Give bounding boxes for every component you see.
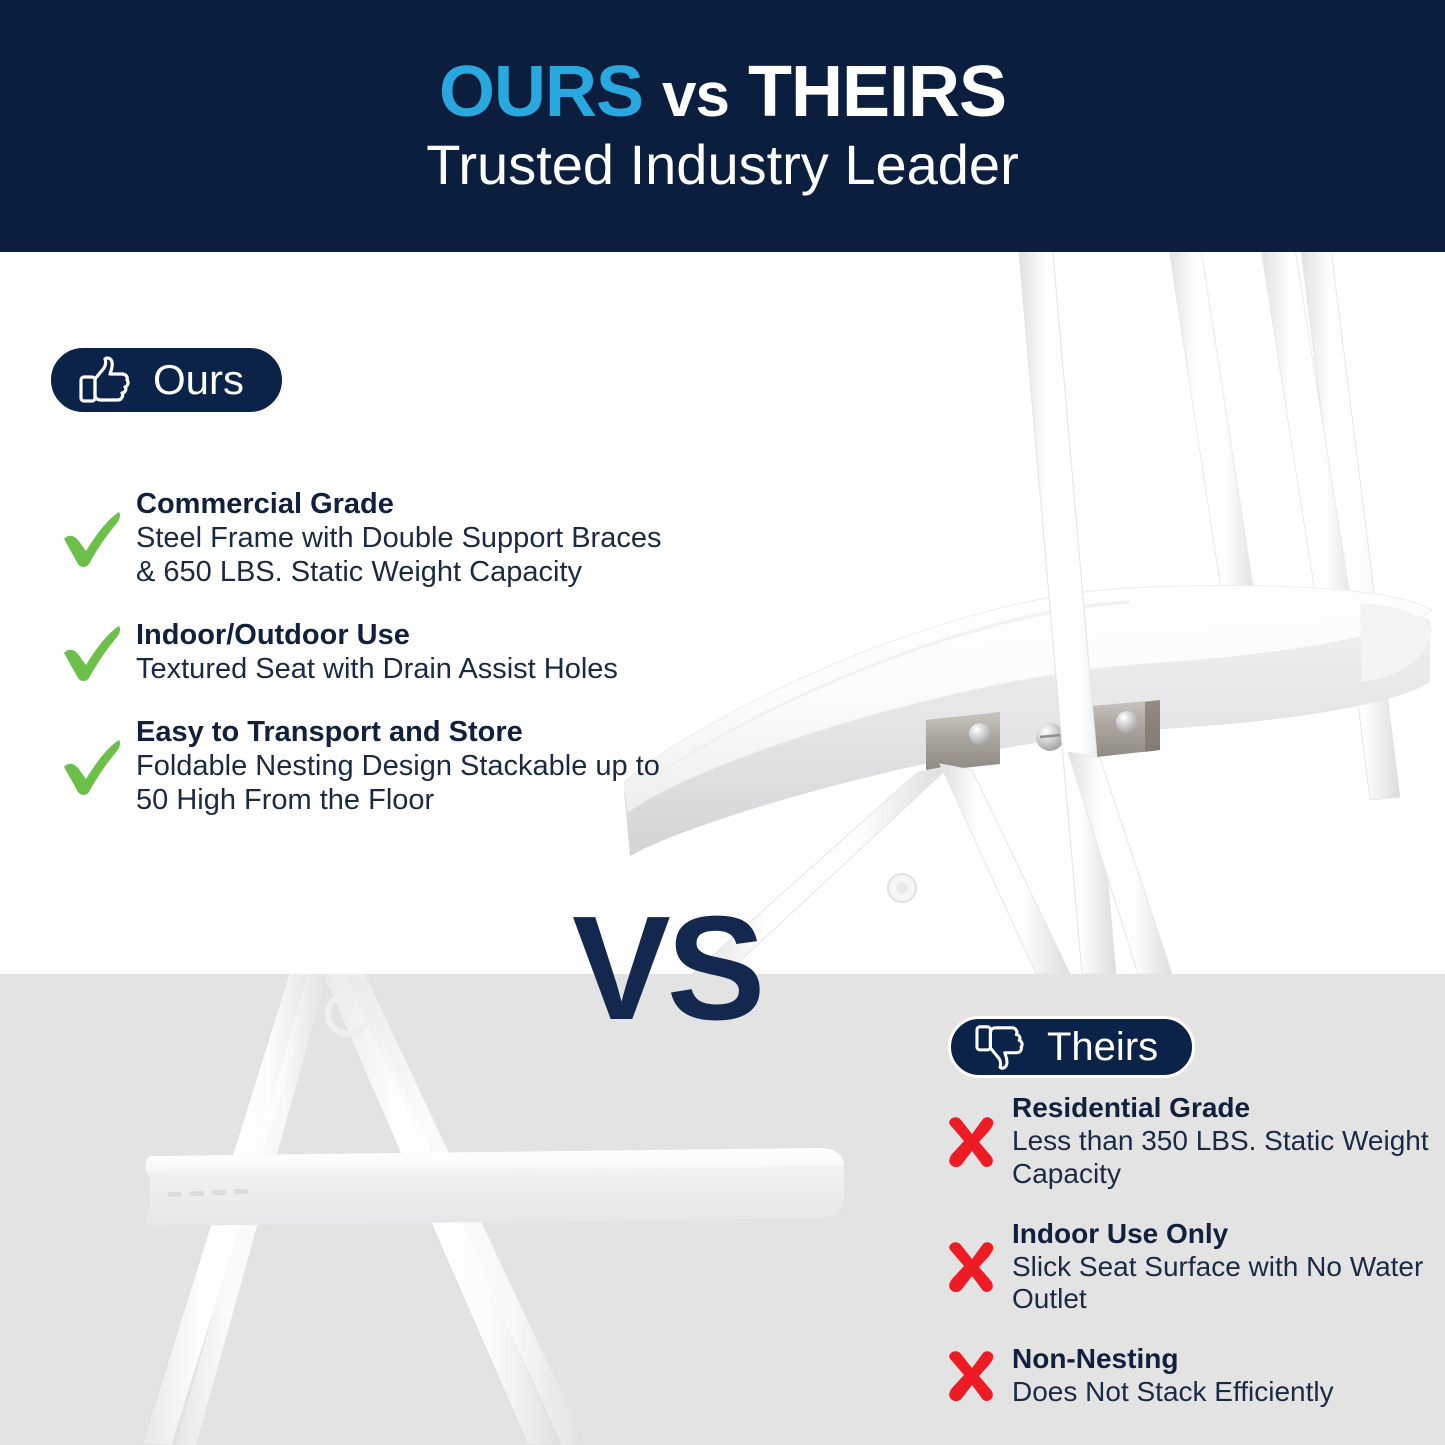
feature-description: Less than 350 LBS. Static Weight Capacit… <box>1012 1125 1432 1191</box>
feature-description: Does Not Stack Efficiently <box>1012 1376 1432 1409</box>
green-check-icon <box>48 623 136 683</box>
feature-description: Textured Seat with Drain Assist Holes <box>136 653 668 687</box>
feature-title: Non-Nesting <box>1012 1342 1432 1375</box>
feature-title: Easy to Transport and Store <box>136 715 668 749</box>
title-theirs-word: THEIRS <box>748 52 1006 132</box>
ours-feature-list: Commercial Grade Steel Frame with Double… <box>48 487 668 818</box>
feature-description: Slick Seat Surface with No Water Outlet <box>1012 1251 1432 1317</box>
feature-title: Residential Grade <box>1012 1091 1432 1124</box>
list-item: Indoor Use Only Slick Seat Surface with … <box>932 1217 1432 1317</box>
list-item: Commercial Grade Steel Frame with Double… <box>48 487 668 590</box>
feature-description: Steel Frame with Double Support Braces &… <box>136 522 668 590</box>
green-check-icon <box>48 509 136 569</box>
list-item: Easy to Transport and Store Foldable Nes… <box>48 715 668 818</box>
page-subtitle: Trusted Industry Leader <box>426 134 1018 196</box>
red-x-icon <box>932 1238 1012 1294</box>
feature-title: Indoor/Outdoor Use <box>136 618 668 652</box>
header-banner: OURS vs THEIRS Trusted Industry Leader <box>0 0 1445 252</box>
thumbs-down-icon <box>975 1023 1025 1071</box>
title-vs-word: vs <box>662 61 729 130</box>
theirs-badge-label: Theirs <box>1047 1027 1158 1067</box>
feature-title: Indoor Use Only <box>1012 1217 1432 1250</box>
theirs-feature-list: Residential Grade Less than 350 LBS. Sta… <box>932 1091 1432 1409</box>
list-item: Non-Nesting Does Not Stack Efficiently <box>932 1342 1432 1409</box>
feature-title: Commercial Grade <box>136 487 668 521</box>
theirs-chair-image <box>0 974 900 1445</box>
infographic-root: OURS vs THEIRS Trusted Industry Leader O… <box>0 0 1445 1445</box>
feature-description: Foldable Nesting Design Stackable up to … <box>136 750 668 818</box>
vs-divider-label: VS <box>572 895 761 1043</box>
thumbs-up-icon <box>79 355 131 405</box>
ours-badge-label: Ours <box>153 359 244 401</box>
list-item: Residential Grade Less than 350 LBS. Sta… <box>932 1091 1432 1191</box>
list-item: Indoor/Outdoor Use Textured Seat with Dr… <box>48 618 668 687</box>
ours-chair-image <box>600 252 1445 974</box>
red-x-icon <box>932 1347 1012 1403</box>
title-ours-word: OURS <box>439 52 643 132</box>
page-title: OURS vs THEIRS <box>439 56 1006 128</box>
red-x-icon <box>932 1113 1012 1169</box>
ours-badge: Ours <box>48 345 285 415</box>
theirs-badge: Theirs <box>948 1016 1195 1078</box>
green-check-icon <box>48 737 136 797</box>
